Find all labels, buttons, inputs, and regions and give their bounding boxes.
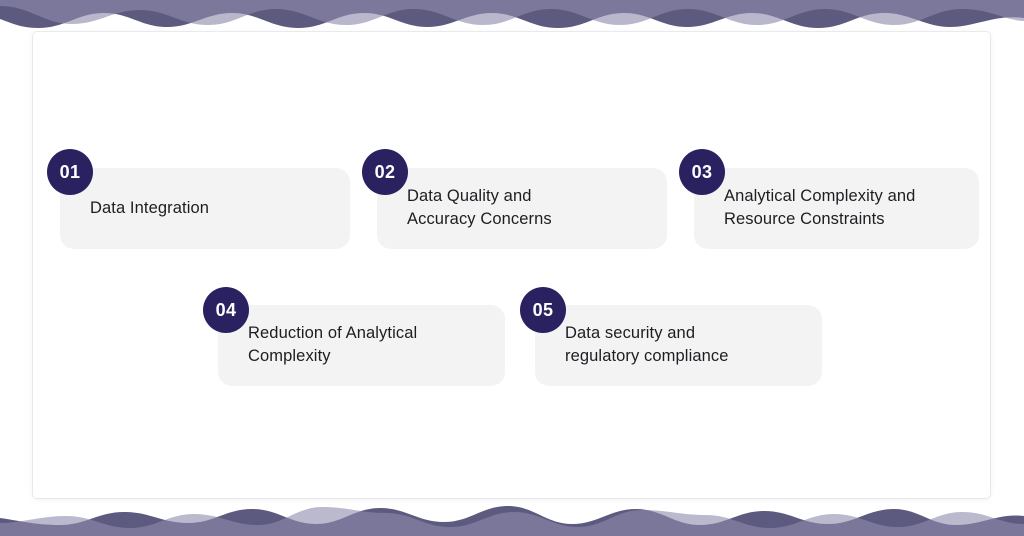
step-badge-05: 05 — [520, 287, 566, 333]
infographic-canvas: Data Integration 01 Data Quality and Acc… — [0, 0, 1024, 536]
info-card-label: Data Quality and Accuracy Concerns — [407, 185, 651, 233]
info-card-data-integration[interactable]: Data Integration — [60, 168, 350, 249]
step-badge-03: 03 — [679, 149, 725, 195]
info-card-data-quality-and-accuracy-concerns[interactable]: Data Quality and Accuracy Concerns — [377, 168, 667, 249]
info-card-label: Analytical Complexity and Resource Const… — [724, 185, 963, 233]
step-badge-01: 01 — [47, 149, 93, 195]
step-badge-02: 02 — [362, 149, 408, 195]
info-card-data-security-and-regulatory-compliance[interactable]: Data security and regulatory compliance — [535, 305, 822, 386]
info-card-label: Data Integration — [90, 197, 334, 221]
info-card-analytical-complexity-and-resource-constraints[interactable]: Analytical Complexity and Resource Const… — [694, 168, 979, 249]
bottom-wave-border — [0, 494, 1024, 536]
step-badge-04: 04 — [203, 287, 249, 333]
info-card-label: Reduction of Analytical Complexity — [248, 322, 489, 370]
info-card-reduction-of-analytical-complexity[interactable]: Reduction of Analytical Complexity — [218, 305, 505, 386]
content-panel — [33, 32, 990, 498]
info-card-label: Data security and regulatory compliance — [565, 322, 806, 370]
top-wave-border — [0, 0, 1024, 34]
